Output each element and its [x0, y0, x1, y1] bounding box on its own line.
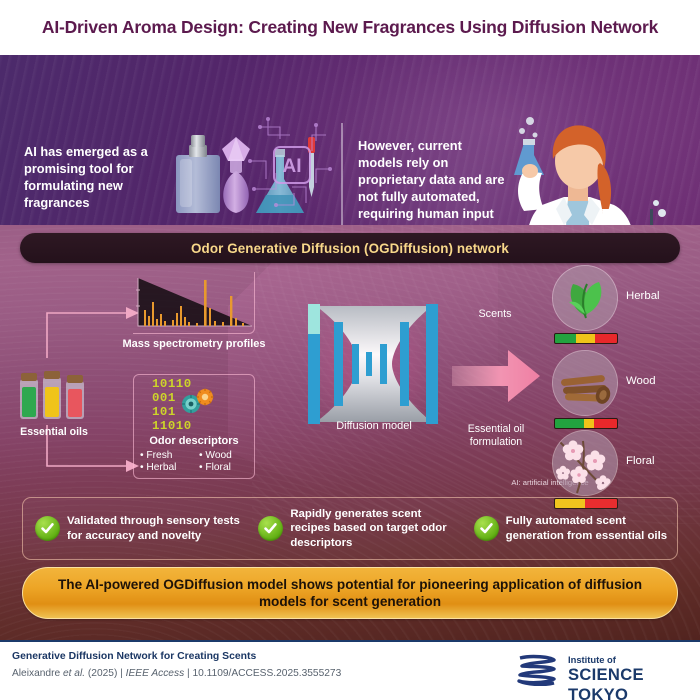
ai-chip-circuit-icon: AI — [246, 117, 336, 213]
conclusion-text: The AI-powered OGDiffusion model shows p… — [50, 576, 650, 611]
footer-title: Generative Diffusion Network for Creatin… — [12, 651, 256, 662]
check-icon — [258, 516, 283, 541]
ai-chip-label: AI — [283, 156, 302, 177]
intro-left-text: AI has emerged as a promising tool for f… — [24, 143, 174, 211]
panel-divider — [341, 123, 343, 225]
infographic-page: AI-Driven Aroma Design: Creating New Fra… — [0, 0, 700, 700]
odor-descriptor-item: • Fresh — [140, 450, 193, 461]
chemist-illustration — [490, 113, 680, 225]
benefit-text: Rapidly generates scent recipes based on… — [290, 507, 461, 550]
odor-descriptor-label: Floral — [205, 462, 230, 473]
cherry-blossom-icon — [552, 430, 618, 496]
leaf-icon — [552, 265, 618, 331]
pink-arrow-icon — [452, 348, 540, 404]
odor-descriptor-item: • Wood — [199, 450, 252, 461]
check-icon — [474, 516, 499, 541]
intro-right-text: However, current models rely on propriet… — [358, 137, 508, 222]
odor-descriptor-label: Fresh — [146, 450, 172, 461]
check-icon — [35, 516, 60, 541]
science-tokyo-ribbon-icon — [516, 654, 558, 686]
diffusion-model-label: Diffusion model — [294, 420, 454, 432]
page-title: AI-Driven Aroma Design: Creating New Fra… — [30, 17, 670, 39]
binary-line: 11010 — [152, 420, 237, 434]
diffusion-model-illustration — [300, 300, 450, 428]
scent-name: Herbal — [626, 290, 660, 302]
ogdiffusion-banner: Odor Generative Diffusion (OGDiffusion) … — [20, 233, 680, 263]
benefits-box: Validated through sensory tests for accu… — [22, 497, 678, 560]
bar-segment-green — [555, 334, 576, 343]
citation-authors: Aleixandre et al. (2025) — [12, 668, 117, 679]
odor-descriptor-label: Herbal — [146, 462, 176, 473]
odor-descriptors-list: • Fresh • Wood • Herbal • Floral — [140, 450, 252, 473]
footer: Generative Diffusion Network for Creatin… — [0, 640, 700, 700]
ogdiffusion-banner-label: Odor Generative Diffusion (OGDiffusion) … — [191, 241, 509, 256]
logo-line-2: SCIENCE TOKYO — [568, 665, 688, 700]
citation-sep: | — [117, 668, 125, 679]
benefit-text: Validated through sensory tests for accu… — [67, 514, 246, 543]
benefit-text: Fully automated scent generation from es… — [506, 514, 677, 543]
citation-doi: 10.1109/ACCESS.2025.3555273 — [192, 668, 341, 679]
scent-name: Wood — [626, 375, 656, 387]
essential-oil-formulation-label: Essential oil formulation — [444, 423, 548, 449]
mass-spectrometry-chart — [134, 276, 254, 332]
conclusion-banner: The AI-powered OGDiffusion model shows p… — [22, 567, 678, 619]
benefit-item: Rapidly generates scent recipes based on… — [246, 507, 461, 550]
essential-oils-label: Essential oils — [6, 426, 102, 438]
scents-label: Scents — [452, 308, 538, 320]
scent-result-floral: Floral — [552, 430, 700, 504]
odor-descriptors-label: Odor descriptors — [126, 435, 262, 447]
footer-citation: Aleixandre et al. (2025) | IEEE Access |… — [12, 668, 341, 679]
scent-name: Floral — [626, 455, 654, 467]
orange-gear-icon — [196, 388, 214, 406]
bar-segment-red — [594, 419, 617, 428]
scent-intensity-bar — [554, 333, 618, 344]
benefit-item: Fully automated scent generation from es… — [462, 514, 677, 543]
scent-intensity-bar — [554, 418, 618, 429]
benefit-item: Validated through sensory tests for accu… — [23, 514, 246, 543]
intro-panel: AI AI has emerged as a promising tool fo… — [0, 55, 700, 225]
citation-journal: IEEE Access — [126, 668, 185, 679]
essential-oil-bottles-icon — [14, 365, 90, 423]
binary-line: 10110 — [152, 378, 237, 392]
odor-descriptor-label: Wood — [205, 450, 231, 461]
bar-segment-red — [595, 334, 617, 343]
cinnamon-sticks-icon — [552, 350, 618, 416]
scent-result-wood: Wood — [552, 350, 700, 424]
institute-logo: Institute of SCIENCE TOKYO — [516, 650, 688, 690]
odor-descriptor-item: • Floral — [199, 462, 252, 473]
footer-divider — [0, 640, 700, 642]
bar-segment-yellow — [576, 334, 595, 343]
mass-spectrometry-label: Mass spectrometry profiles — [118, 338, 270, 351]
bar-segment-green — [555, 419, 584, 428]
logo-line-1: Institute of — [568, 654, 616, 665]
odor-descriptor-item: • Herbal — [140, 462, 193, 473]
bar-segment-yellow — [584, 419, 595, 428]
title-band: AI-Driven Aroma Design: Creating New Fra… — [0, 0, 700, 55]
scent-result-herbal: Herbal — [552, 265, 700, 339]
